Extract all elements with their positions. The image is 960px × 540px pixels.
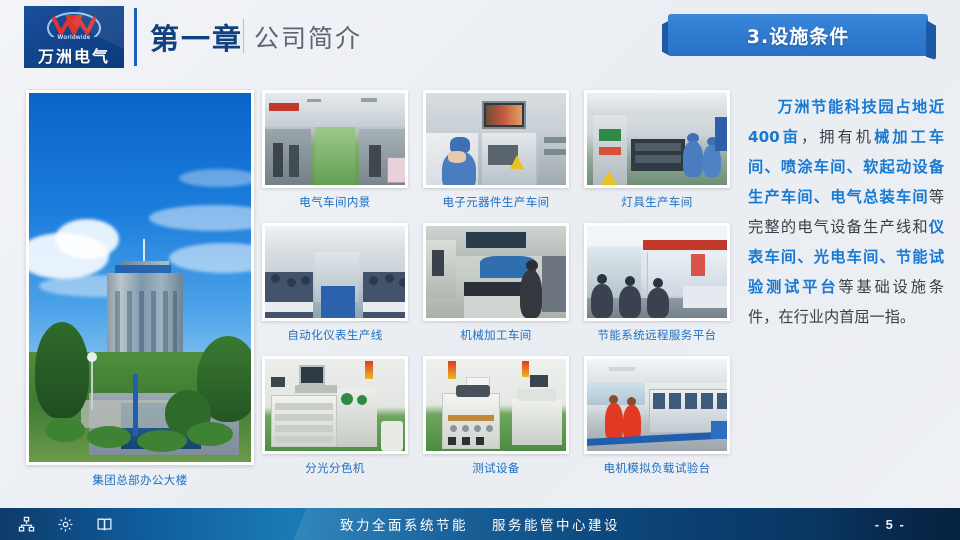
hero-caption: 集团总部办公大楼 xyxy=(26,472,254,488)
section-badge: 3.设施条件 xyxy=(668,14,936,56)
grid-cell: 节能系统远程服务平台 xyxy=(584,223,730,343)
photo-caption: 电子元器件生产车间 xyxy=(423,194,569,210)
logo-company-name: 万洲电气 xyxy=(24,43,124,67)
page-number: - 5 - xyxy=(820,508,960,540)
photo-lamp-production xyxy=(584,90,730,188)
shrub xyxy=(187,422,233,446)
title-divider xyxy=(243,19,244,53)
photo-motor-load-test-bench xyxy=(584,356,730,454)
w-shield-icon xyxy=(45,11,103,37)
facility-photo-grid: 电气车间内景 电子元器件生产车间 xyxy=(262,90,730,488)
header-accent-bar xyxy=(134,8,137,66)
text-segment: ，拥有机 xyxy=(801,128,874,146)
footer-slogan-right: 服务能管中心建设 xyxy=(492,514,620,534)
footer-slogans: 致力全面系统节能 服务能管中心建设 xyxy=(0,508,960,540)
grid-cell: 电机模拟负载试验台 xyxy=(584,356,730,476)
shrub xyxy=(45,418,85,442)
photo-caption: 机械加工车间 xyxy=(423,327,569,343)
grid-cell: 分光分色机 xyxy=(262,356,408,476)
grid-cell: 自动化仪表生产线 xyxy=(262,223,408,343)
cloud xyxy=(179,169,254,187)
flag-banner xyxy=(133,374,138,436)
street-lamp xyxy=(91,358,93,410)
slide-canvas: Worldwide 万洲电气 第一章 公司简介 3.设施条件 xyxy=(0,0,960,540)
footer-slogan-left: 致力全面系统节能 xyxy=(340,514,468,534)
grid-cell: 灯具生产车间 xyxy=(584,90,730,210)
photo-remote-service-platform xyxy=(584,223,730,321)
grid-cell: 电气车间内景 xyxy=(262,90,408,210)
chapter-subtitle: 公司简介 xyxy=(254,19,362,55)
photo-component-production xyxy=(423,90,569,188)
photo-test-equipment xyxy=(423,356,569,454)
building-spire xyxy=(143,239,145,263)
shrub xyxy=(137,430,187,452)
slide-footer: 致力全面系统节能 服务能管中心建设 - 5 - xyxy=(0,508,960,540)
facility-description-text: 万洲节能科技园占地近400亩，拥有机械加工车间、喷涂车间、软起动设备生产车间、电… xyxy=(748,92,944,484)
photo-machining-workshop xyxy=(423,223,569,321)
cloud xyxy=(55,219,119,259)
logo-latin-text: Worldwide xyxy=(24,35,124,41)
grid-cell: 机械加工车间 xyxy=(423,223,569,343)
photo-electrical-workshop xyxy=(262,90,408,188)
photo-caption: 电气车间内景 xyxy=(262,194,408,210)
photo-caption: 灯具生产车间 xyxy=(584,194,730,210)
photo-caption: 电机模拟负载试验台 xyxy=(584,460,730,476)
hero-photo-headquarters xyxy=(26,90,254,465)
photo-instrument-assembly-line xyxy=(262,223,408,321)
grid-cell: 电子元器件生产车间 xyxy=(423,90,569,210)
photo-color-sorting-machine xyxy=(262,356,408,454)
photo-caption: 节能系统远程服务平台 xyxy=(584,327,730,343)
badge-label: 3.设施条件 xyxy=(668,14,928,56)
photo-caption: 测试设备 xyxy=(423,460,569,476)
tree xyxy=(35,322,89,418)
photo-caption: 自动化仪表生产线 xyxy=(262,327,408,343)
photo-caption: 分光分色机 xyxy=(262,460,408,476)
chapter-title: 第一章 xyxy=(150,16,243,58)
shrub xyxy=(87,426,131,448)
grid-cell: 测试设备 xyxy=(423,356,569,476)
company-logo: Worldwide 万洲电气 xyxy=(24,6,124,68)
